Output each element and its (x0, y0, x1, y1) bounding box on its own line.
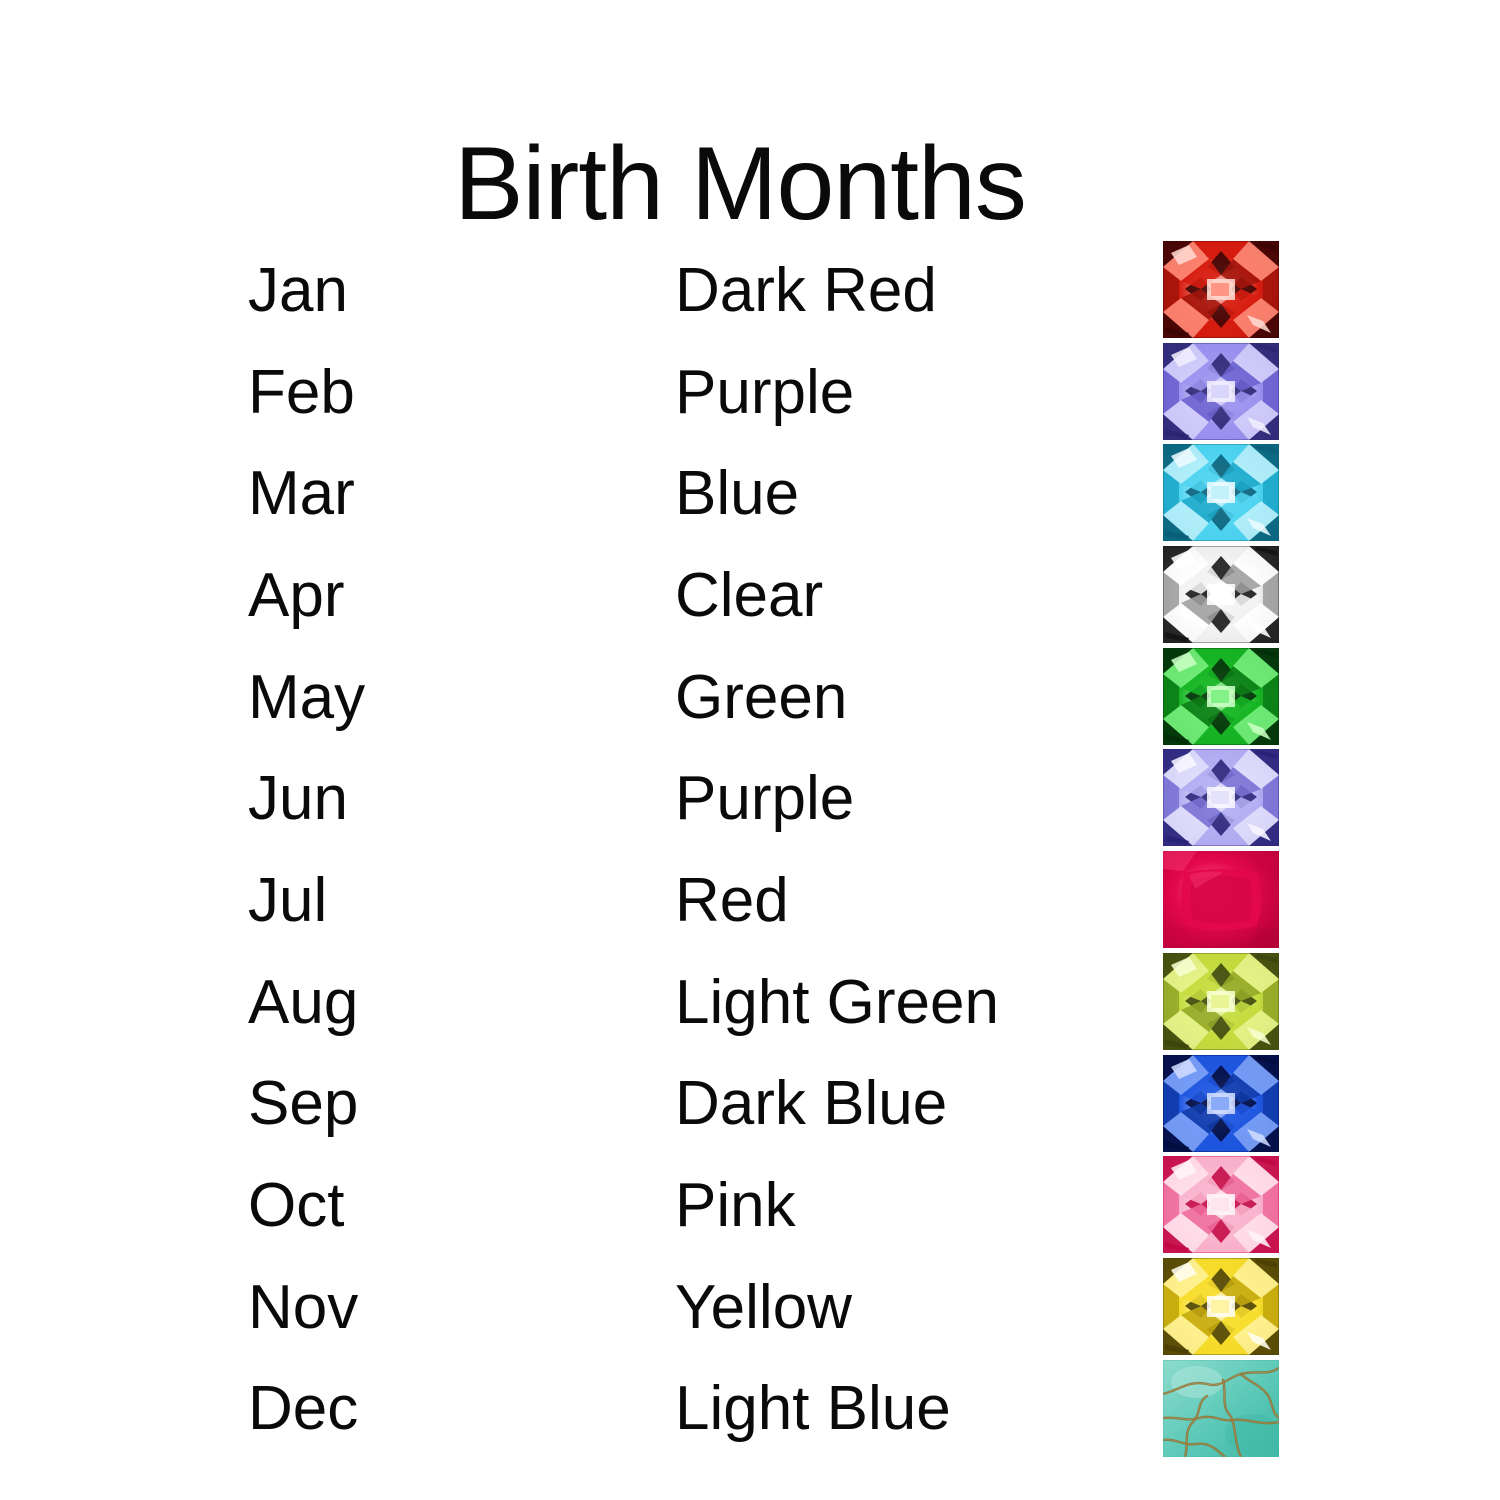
peridot-gem (1163, 953, 1279, 1050)
diamond-gem (1163, 546, 1279, 643)
color-label: Purple (675, 342, 854, 444)
month-label: Mar (248, 443, 355, 545)
color-label: Light Blue (675, 1359, 951, 1461)
alexandrite-gem (1163, 749, 1279, 846)
tourmaline-gem (1163, 1156, 1279, 1253)
aquamarine-gem (1163, 444, 1279, 541)
amethyst-gem (1163, 343, 1279, 440)
month-label: Aug (248, 952, 358, 1054)
sapphire-gem (1163, 1055, 1279, 1152)
color-label: Dark Blue (675, 1054, 947, 1156)
table-row: OctPink (0, 1155, 1500, 1257)
table-row: AugLight Green (0, 952, 1500, 1054)
month-label: Feb (248, 342, 355, 444)
month-label: Sep (248, 1054, 358, 1156)
emerald-gem (1163, 648, 1279, 745)
month-label: Nov (248, 1257, 358, 1359)
color-label: Blue (675, 443, 799, 545)
color-label: Purple (675, 748, 854, 850)
month-label: Jul (248, 850, 327, 952)
page-title: Birth Months (0, 132, 1480, 236)
color-label: Light Green (675, 952, 999, 1054)
color-label: Yellow (675, 1257, 852, 1359)
garnet-gem (1163, 241, 1279, 338)
table-row: DecLight Blue (0, 1359, 1500, 1461)
color-label: Dark Red (675, 240, 937, 342)
birth-months-page: Birth Months JanDark RedFebPurpleMarBlue… (0, 0, 1500, 1500)
table-row: MarBlue (0, 443, 1500, 545)
turquoise-gem (1163, 1360, 1279, 1457)
month-label: Jan (248, 240, 348, 342)
birth-months-table: JanDark RedFebPurpleMarBlueAprClearMayGr… (0, 240, 1500, 1460)
color-label: Red (675, 850, 789, 952)
table-row: MayGreen (0, 647, 1500, 749)
table-row: JunPurple (0, 748, 1500, 850)
month-label: Oct (248, 1155, 344, 1257)
table-row: FebPurple (0, 342, 1500, 444)
color-label: Pink (675, 1155, 796, 1257)
color-label: Green (675, 647, 847, 749)
table-row: AprClear (0, 545, 1500, 647)
month-label: Dec (248, 1359, 358, 1461)
month-label: Apr (248, 545, 344, 647)
table-row: NovYellow (0, 1257, 1500, 1359)
color-label: Clear (675, 545, 823, 647)
table-row: JanDark Red (0, 240, 1500, 342)
topaz-gem (1163, 1258, 1279, 1355)
table-row: JulRed (0, 850, 1500, 952)
month-label: Jun (248, 748, 348, 850)
month-label: May (248, 647, 365, 749)
table-row: SepDark Blue (0, 1054, 1500, 1156)
ruby-gem (1163, 851, 1279, 948)
